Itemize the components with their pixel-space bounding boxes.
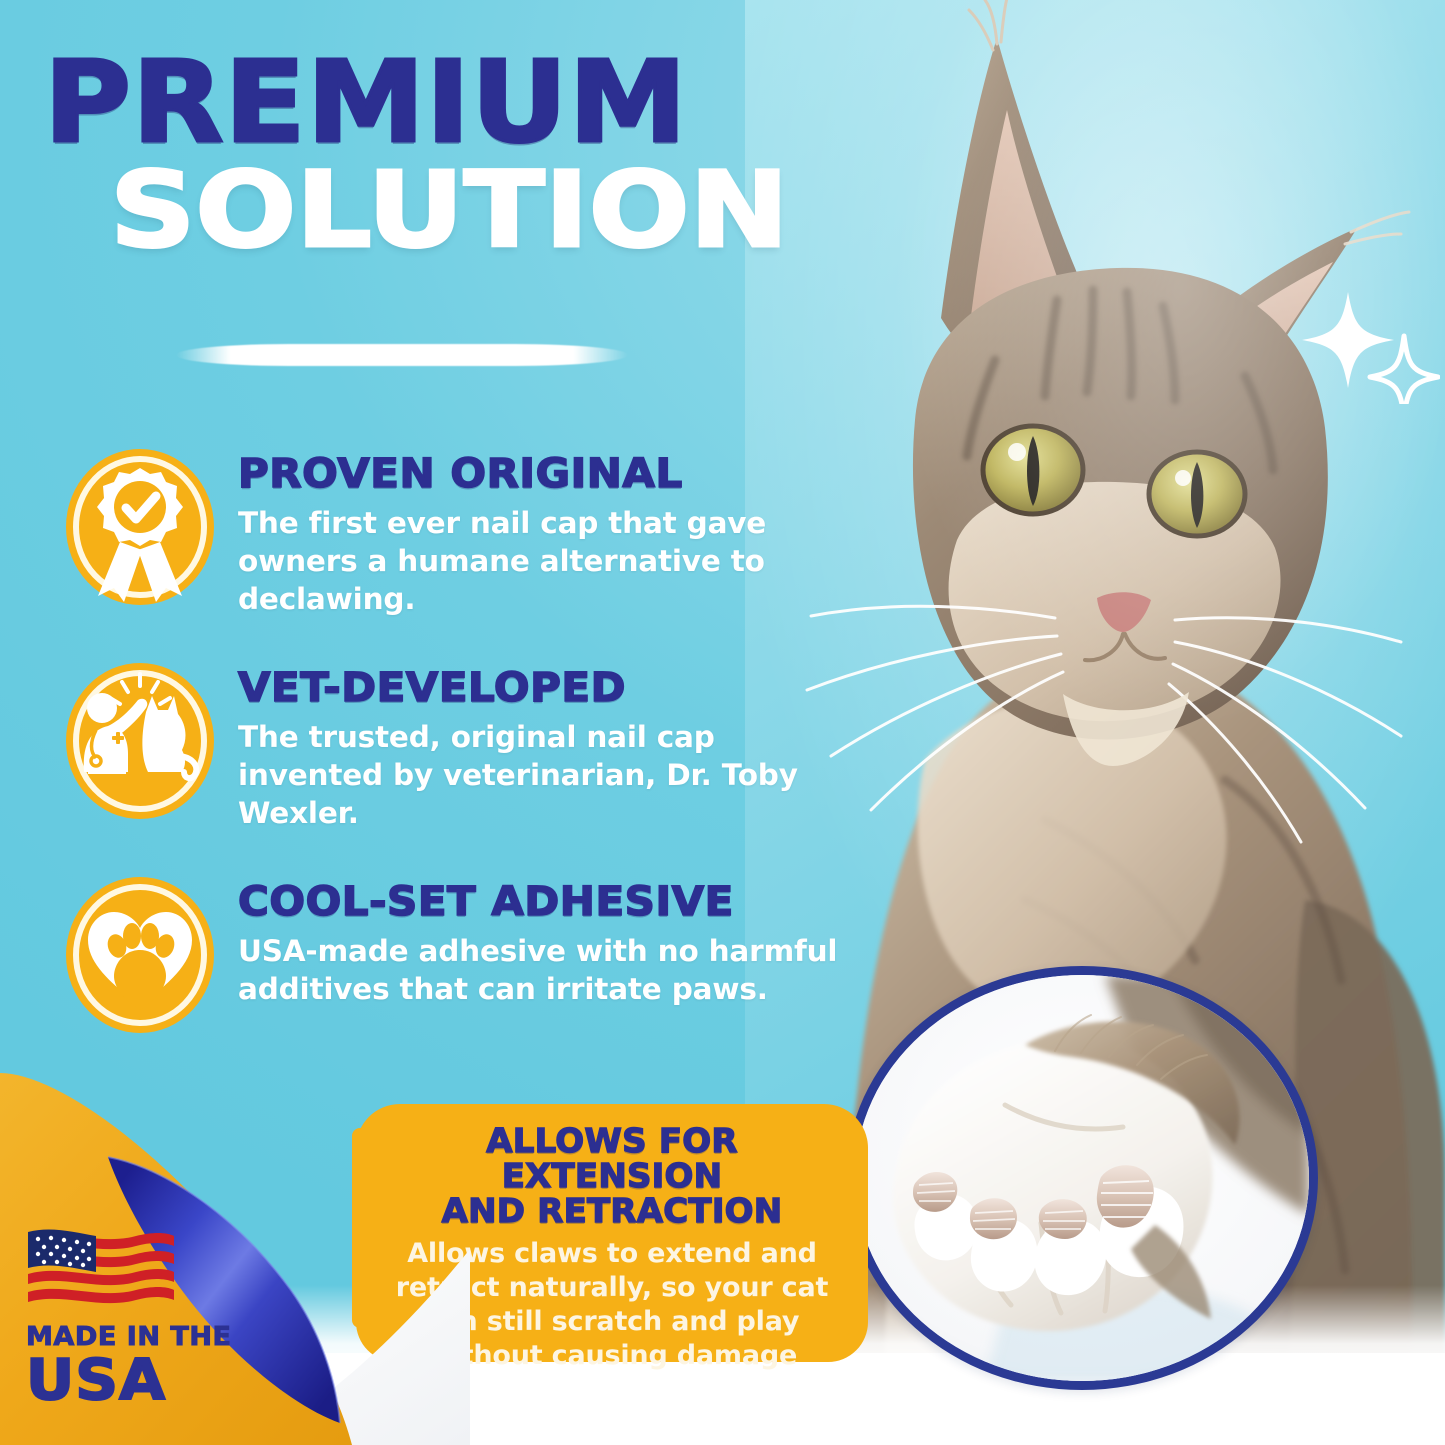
made-in-usa-badge: MADE IN THE USA [26,1224,266,1411]
feature-text: VET-DEVELOPED The trusted, original nail… [238,660,862,832]
feature-icon-wrap [62,660,218,822]
product-infographic: PREMIUM SOLUTION [0,0,1445,1445]
cat-paw-with-nail-caps-photo [855,975,1309,1381]
feature-text: COOL-SET ADHESIVE USA-made adhesive with… [238,874,862,1008]
vet-high-five-cat-icon [62,660,218,822]
feature-text: PROVEN ORIGINAL The first ever nail cap … [238,446,862,618]
heart-paw-icon [62,874,218,1036]
feature-body: USA-made adhesive with no harmful additi… [238,932,862,1008]
headline-divider-swoosh [176,344,628,366]
page-title-line1: PREMIUM [44,52,881,155]
feature-title: VET-DEVELOPED [238,668,893,709]
made-in-usa-line1: MADE IN THE [26,1324,276,1350]
headline-block: PREMIUM SOLUTION [44,52,834,260]
feature-item: VET-DEVELOPED The trusted, original nail… [62,660,862,832]
feature-title: COOL-SET ADHESIVE [238,882,893,923]
feature-item: PROVEN ORIGINAL The first ever nail cap … [62,446,862,618]
us-flag-icon [26,1224,176,1312]
feature-icon-wrap [62,874,218,1036]
feature-body: The trusted, original nail cap invented … [238,718,862,832]
feature-list: PROVEN ORIGINAL The first ever nail cap … [62,446,862,1078]
made-in-usa-line2: USA [26,1352,280,1411]
paw-closeup-inset [846,966,1318,1390]
feature-body: The first ever nail cap that gave owners… [238,504,862,618]
sparkle-stars-icon [1300,286,1440,404]
feature-icon-wrap [62,446,218,608]
award-ribbon-icon [62,446,218,608]
feature-item: COOL-SET ADHESIVE USA-made adhesive with… [62,874,862,1036]
feature-title: PROVEN ORIGINAL [238,454,893,495]
page-title-line2: SOLUTION [110,161,935,260]
